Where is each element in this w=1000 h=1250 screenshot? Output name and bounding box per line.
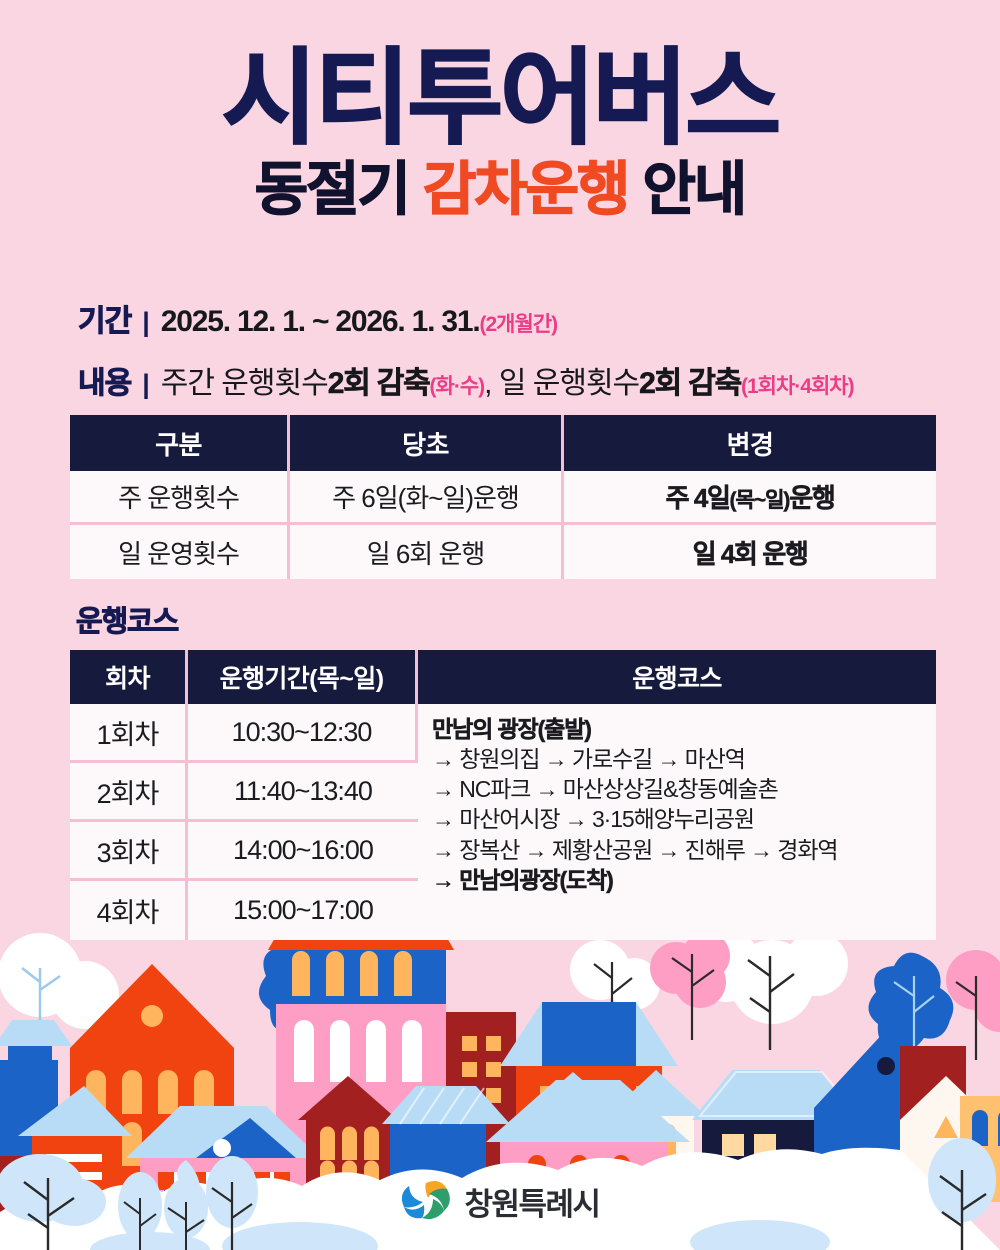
- course-route-cell: 만남의 광장(출발) → 창원의집 → 가로수길 → 마산역 → NC파크 → …: [418, 704, 936, 940]
- course-line-5: → 만남의광장(도착): [432, 865, 936, 895]
- content-note2: (1회차·4회차): [741, 370, 854, 400]
- content-label: 내용: [78, 358, 131, 402]
- table-row: 주 운행횟수 주 6일(화~일)운행 주 4일(목~일)운행: [70, 471, 936, 525]
- course-line-0: 만남의 광장(출발): [432, 714, 936, 744]
- subtitle-accent: 감차운행: [423, 157, 628, 222]
- subtitle-suffix: 안내: [628, 157, 745, 222]
- schedule-row0-changed-paren: (목~일): [730, 489, 790, 512]
- course-header-course: 운행코스: [418, 650, 936, 704]
- schedule-row0-changed-tail: 운행: [789, 483, 834, 513]
- schedule-header-category: 구분: [70, 415, 290, 471]
- info-lines: 기간 | 2025. 12. 1. ~ 2026. 1. 31. (2개월간) …: [78, 296, 958, 420]
- period-value: 2025. 12. 1. ~ 2026. 1. 31.: [161, 305, 480, 339]
- schedule-row0-category: 주 운행횟수: [70, 471, 290, 525]
- schedule-row0-changed-main: 주 4일: [666, 483, 730, 513]
- schedule-header-original: 당초: [290, 415, 564, 471]
- course-line-1: → 창원의집 → 가로수길 → 마산역: [432, 744, 936, 774]
- course-line-3: → 마산어시장 → 3·15해양누리공원: [432, 804, 936, 834]
- schedule-row1-changed: 일 4회 운행: [564, 525, 936, 579]
- table-row: 1회차 10:30~12:30 만남의 광장(출발) → 창원의집 → 가로수길…: [70, 704, 936, 763]
- content-separator: |: [142, 369, 150, 400]
- schedule-row0-changed: 주 4일(목~일)운행: [564, 471, 936, 525]
- period-note: (2개월간): [480, 308, 558, 338]
- schedule-row1-changed-main: 일 4회 운행: [693, 539, 808, 569]
- course-row0-round: 1회차: [70, 704, 188, 763]
- course-row2-round: 3회차: [70, 822, 188, 881]
- content-note1: (화·수): [430, 370, 485, 400]
- course-section-heading: 운행코스: [76, 598, 178, 640]
- course-row3-time: 15:00~17:00: [188, 881, 418, 940]
- schedule-row1-category: 일 운영횟수: [70, 525, 290, 579]
- content-row: 내용 | 주간 운행횟수 2회 감축 (화·수) , 일 운행횟수 2회 감축 …: [78, 358, 958, 402]
- period-label: 기간: [78, 296, 131, 340]
- course-line-4: → 장복산 → 제황산공원 → 진해루 → 경화역: [432, 835, 936, 865]
- schedule-header-row: 구분 당초 변경: [70, 415, 936, 471]
- schedule-header-changed: 변경: [564, 415, 936, 471]
- course-table: 회차 운행기간(목~일) 운행코스 1회차 10:30~12:30 만남의 광장…: [70, 650, 936, 940]
- period-separator: |: [142, 307, 150, 338]
- course-line-2: → NC파크 → 마산상상길&창동예술촌: [432, 774, 936, 804]
- table-row: 일 운영횟수 일 6회 운행 일 4회 운행: [70, 525, 936, 579]
- content-bold2: 2회 감축: [639, 358, 741, 402]
- period-row: 기간 | 2025. 12. 1. ~ 2026. 1. 31. (2개월간): [78, 296, 958, 340]
- course-row3-round: 4회차: [70, 881, 188, 940]
- content-bold1: 2회 감축: [328, 358, 430, 402]
- schedule-row0-original: 주 6일(화~일)운행: [290, 471, 564, 525]
- course-header-round: 회차: [70, 650, 188, 704]
- page-title: 시티투어버스: [0, 46, 1000, 152]
- course-header-row: 회차 운행기간(목~일) 운행코스: [70, 650, 936, 704]
- poster-root: 시티투어버스 동절기 감차운행 안내 기간 | 2025. 12. 1. ~ 2…: [0, 0, 1000, 1250]
- course-row1-time: 11:40~13:40: [188, 763, 418, 822]
- course-header-time: 운행기간(목~일): [188, 650, 418, 704]
- page-subtitle: 동절기 감차운행 안내: [0, 160, 1000, 221]
- subtitle-prefix: 동절기: [255, 157, 423, 222]
- course-row1-round: 2회차: [70, 763, 188, 822]
- title-block: 시티투어버스 동절기 감차운행 안내: [0, 46, 1000, 221]
- content-middle: , 일 운행횟수: [484, 358, 639, 402]
- course-route-lines: 만남의 광장(출발) → 창원의집 → 가로수길 → 마산역 → NC파크 → …: [432, 714, 936, 895]
- schedule-row1-original: 일 6회 운행: [290, 525, 564, 579]
- schedule-table: 구분 당초 변경 주 운행횟수 주 6일(화~일)운행 주 4일(목~일)운행 …: [70, 415, 936, 579]
- footer-logo: 창원특례시: [0, 1178, 1000, 1224]
- content-part1: 주간 운행횟수: [161, 358, 328, 402]
- course-row2-time: 14:00~16:00: [188, 822, 418, 881]
- course-row0-time: 10:30~12:30: [188, 704, 418, 763]
- city-name-label: 창원특례시: [464, 1179, 599, 1224]
- changwon-city-logo-icon: [400, 1178, 452, 1224]
